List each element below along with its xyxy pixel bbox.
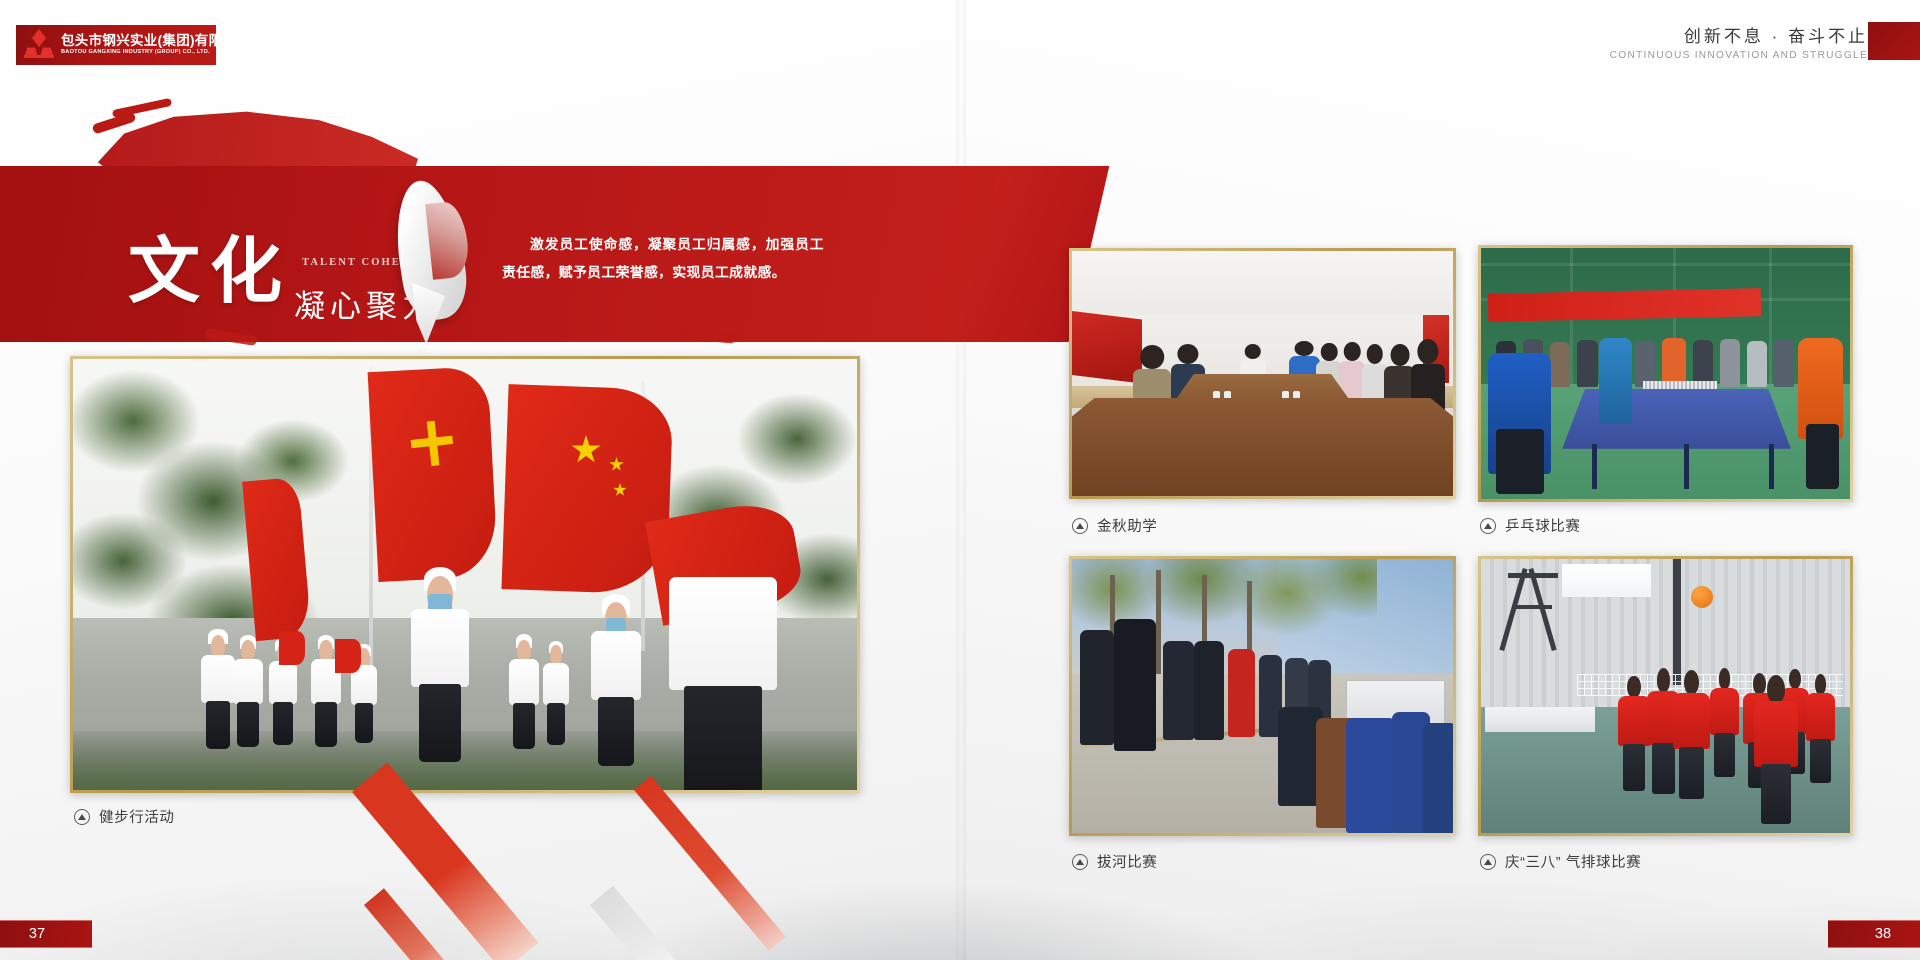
caption-volleyball-match: 庆“三八” 气排球比赛 [1480,851,1641,872]
gym-banner [1488,288,1762,321]
curled-ribbon-ornament [382,180,464,320]
photo-autumn-scholarship [1069,248,1456,499]
circled-up-arrow-icon [1072,854,1088,870]
caption-text: 拔河比赛 [1097,851,1157,872]
caption-table-tennis-match: 乒乓球比赛 [1480,515,1581,536]
caption-text: 健步行活动 [99,806,175,827]
photo-table-tennis-match [1478,245,1853,502]
caption-text: 庆“三八” 气排球比赛 [1505,851,1641,872]
caption-walking-event: 健步行活动 [74,806,175,827]
photo-walking-event [70,356,860,793]
intro-paragraph: 激发员工使命感，凝聚员工归属感，加强员工责任感，赋予员工荣誉感，实现员工成就感。 [502,232,824,288]
diamond-anvil-logo-icon [22,28,56,62]
page-number-left: 37 [0,920,92,948]
caption-text: 乒乓球比赛 [1505,515,1581,536]
header-slogan: 创新不息 · 奋斗不止 CONTINUOUS INNOVATION AND ST… [1610,22,1868,61]
circled-up-arrow-icon [1072,518,1088,534]
company-name-cn: 包头市钢兴实业(集团)有限公司 [61,34,250,48]
page-title: 文化 [128,212,292,317]
circled-up-arrow-icon [1480,854,1496,870]
brochure-spread: 包头市钢兴实业(集团)有限公司 BAOTOU GANGXING INDUSTRY… [0,0,1920,960]
photo-tug-of-war-match [1069,556,1456,836]
slogan-cn: 创新不息 · 奋斗不止 [1610,22,1868,47]
header-accent-chip [1868,22,1920,60]
circled-up-arrow-icon [74,809,90,825]
caption-text: 金秋助学 [1097,515,1157,536]
page-number-right: 38 [1828,920,1920,948]
slogan-en: CONTINUOUS INNOVATION AND STRUGGLE [1610,50,1868,61]
caption-autumn-scholarship: 金秋助学 [1072,515,1157,536]
circled-up-arrow-icon [1480,518,1496,534]
caption-tug-of-war-match: 拔河比赛 [1072,851,1157,872]
photo-volleyball-match [1478,556,1853,836]
company-logo: 包头市钢兴实业(集团)有限公司 BAOTOU GANGXING INDUSTRY… [16,25,216,65]
page-gutter-shadow [956,0,966,960]
company-name-en: BAOTOU GANGXING INDUSTRY (GROUP) CO., LT… [61,50,250,56]
